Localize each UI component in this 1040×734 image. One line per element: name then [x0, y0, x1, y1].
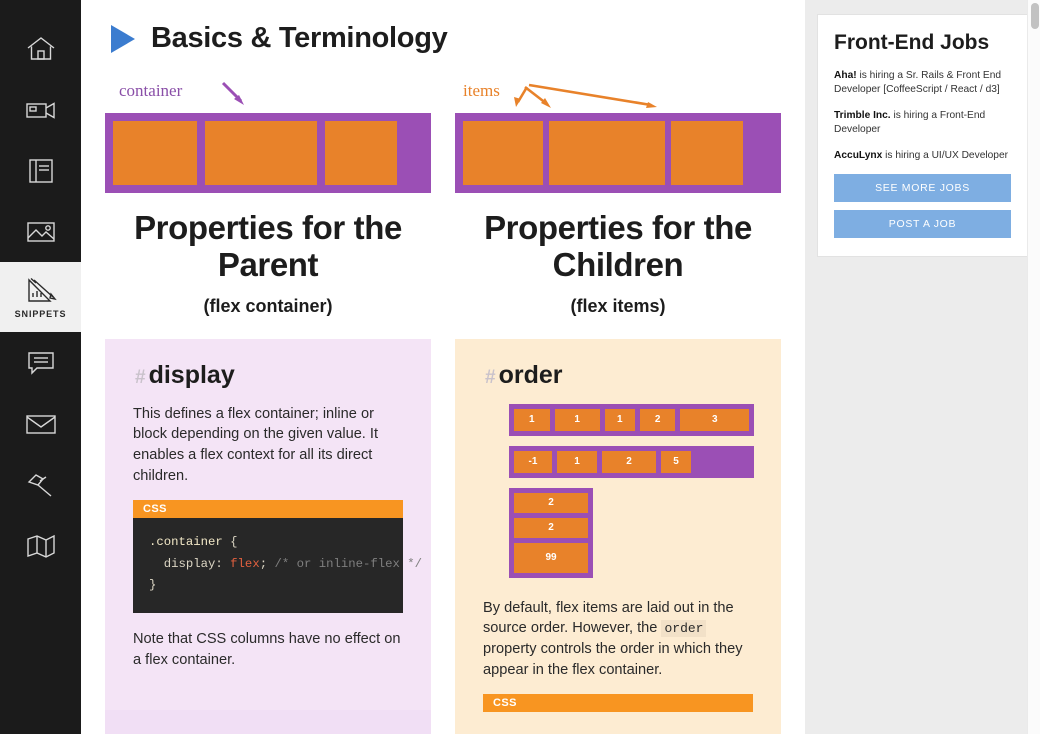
flex-item [325, 121, 397, 185]
front-end-jobs-panel: Front-End Jobs Aha! is hiring a Sr. Rail… [817, 14, 1028, 257]
book-icon [28, 157, 54, 185]
hammer-icon [26, 471, 56, 499]
code-language-label: CSS [483, 694, 753, 712]
order-cell: 2 [514, 518, 588, 538]
items-annotation-row: items [455, 81, 781, 109]
sidebar-item-tools[interactable] [0, 454, 81, 515]
job-listing[interactable]: Aha! is hiring a Sr. Rails & Front End D… [834, 69, 1011, 98]
sidebar-item-video[interactable] [0, 79, 81, 140]
page-title-row: Basics & Terminology [105, 22, 795, 55]
page-scrollbar[interactable] [1027, 0, 1040, 734]
card-next-parent-partial [105, 710, 431, 734]
code-semicolon: ; [260, 557, 267, 571]
order-figure-column: 2 2 99 [509, 488, 593, 578]
image-icon [26, 220, 56, 244]
flex-item [671, 121, 743, 185]
order-cell: 1 [557, 451, 597, 473]
items-label: items [463, 81, 500, 101]
job-company: AccuLynx [834, 150, 882, 161]
flex-items-demo [455, 113, 781, 193]
flex-container-demo [105, 113, 431, 193]
sidebar-item-mail[interactable] [0, 393, 81, 454]
code-value: flex [223, 557, 260, 571]
code-comment: /* or inline-flex */ [267, 557, 422, 571]
hash-anchor-icon[interactable]: # [485, 367, 496, 388]
sidebar-item-label: SNIPPETS [15, 309, 67, 319]
flex-item [113, 121, 197, 185]
order-cell: 2 [640, 409, 676, 431]
hash-anchor-icon[interactable]: # [135, 367, 146, 388]
scrollbar-thumb[interactable] [1031, 3, 1039, 29]
parent-properties-column: #display This defines a flex container; … [105, 339, 431, 734]
main-content: Basics & Terminology container [81, 0, 805, 734]
order-figure-row-1: 1 1 1 2 3 [509, 404, 754, 436]
code-language-label: CSS [133, 500, 403, 518]
order-cell: 3 [680, 409, 749, 431]
home-icon [26, 35, 56, 63]
left-sidebar: SNIPPETS [0, 0, 81, 734]
order-cell: 1 [605, 409, 635, 431]
jobs-panel-title: Front-End Jobs [834, 31, 1011, 55]
card-order: #order 1 1 1 2 3 -1 [455, 339, 781, 734]
job-text: is hiring a Sr. Rails & Front End Develo… [834, 70, 1001, 95]
card-note-display: Note that CSS columns have no effect on … [133, 629, 403, 670]
section-subheading-parent: (flex container) [105, 296, 431, 317]
order-body-post: property controls the order in which the… [483, 641, 743, 678]
order-figures: 1 1 1 2 3 -1 1 2 5 [509, 404, 753, 578]
code-block-display: CSS .container { display: flex; /* or in… [133, 500, 403, 613]
terminology-diagrams: container Properties for theParent (flex… [105, 81, 795, 339]
sidebar-item-home[interactable] [0, 18, 81, 79]
flex-item [463, 121, 543, 185]
video-camera-icon [25, 98, 57, 122]
order-cell: -1 [514, 451, 552, 473]
see-more-jobs-button[interactable]: SEE MORE JOBS [834, 174, 1011, 202]
post-a-job-button[interactable]: POST A JOB [834, 210, 1011, 238]
sidebar-item-map[interactable] [0, 515, 81, 576]
app-root: SNIPPETS [0, 0, 1040, 734]
envelope-icon [25, 412, 57, 436]
card-display: #display This defines a flex container; … [105, 339, 431, 711]
property-cards-grid: #display This defines a flex container; … [105, 339, 795, 734]
code-brace-open: { [223, 535, 238, 549]
container-diagram-column: container Properties for theParent (flex… [105, 81, 431, 339]
order-figure-row-2: -1 1 2 5 [509, 446, 754, 478]
card-title-text: display [149, 361, 235, 389]
order-inline-code: order [661, 620, 706, 637]
code-brace-close: } [149, 578, 156, 592]
job-company: Aha! [834, 70, 857, 81]
section-heading-parent: Properties for theParent [105, 209, 431, 284]
card-title-display: #display [133, 361, 403, 390]
order-cell: 5 [661, 451, 691, 473]
flex-item [549, 121, 665, 185]
section-heading-children: Properties for theChildren [455, 209, 781, 284]
job-listing[interactable]: AccuLynx is hiring a UI/UX Developer [834, 149, 1011, 163]
sidebar-item-book[interactable] [0, 140, 81, 201]
job-company: Trimble Inc. [834, 110, 891, 121]
card-body-order: By default, flex items are laid out in t… [483, 598, 753, 681]
page-title: Basics & Terminology [151, 22, 447, 55]
items-diagram-column: items [455, 81, 781, 339]
code-content[interactable]: .container { display: flex; /* or inline… [133, 518, 403, 613]
job-text: is hiring a UI/UX Developer [882, 150, 1008, 161]
section-subheading-children: (flex items) [455, 296, 781, 317]
play-triangle-icon [111, 25, 135, 53]
container-annotation-row: container [105, 81, 431, 109]
items-arrows-icon [455, 77, 781, 111]
code-property: display: [149, 557, 223, 571]
order-cell: 99 [514, 543, 588, 573]
ruler-pencil-icon [25, 276, 57, 306]
sidebar-item-comments[interactable] [0, 332, 81, 393]
flex-item [205, 121, 317, 185]
job-listing[interactable]: Trimble Inc. is hiring a Front-End Devel… [834, 109, 1011, 138]
card-title-order: #order [483, 361, 753, 390]
right-sidebar: Front-End Jobs Aha! is hiring a Sr. Rail… [805, 0, 1040, 734]
card-body-display: This defines a flex container; inline or… [133, 404, 403, 487]
card-title-text: order [499, 361, 563, 389]
chat-bubble-icon [26, 350, 56, 376]
order-cell: 2 [514, 493, 588, 513]
children-properties-column: #order 1 1 1 2 3 -1 [455, 339, 781, 734]
container-label: container [119, 81, 182, 101]
code-selector: .container [149, 535, 223, 549]
map-icon [26, 533, 56, 559]
sidebar-item-images[interactable] [0, 201, 81, 262]
order-cell: 2 [602, 451, 656, 473]
order-cell: 1 [555, 409, 600, 431]
sidebar-item-snippets[interactable]: SNIPPETS [0, 262, 81, 332]
code-block-order: CSS [483, 694, 753, 712]
order-cell: 1 [514, 409, 550, 431]
